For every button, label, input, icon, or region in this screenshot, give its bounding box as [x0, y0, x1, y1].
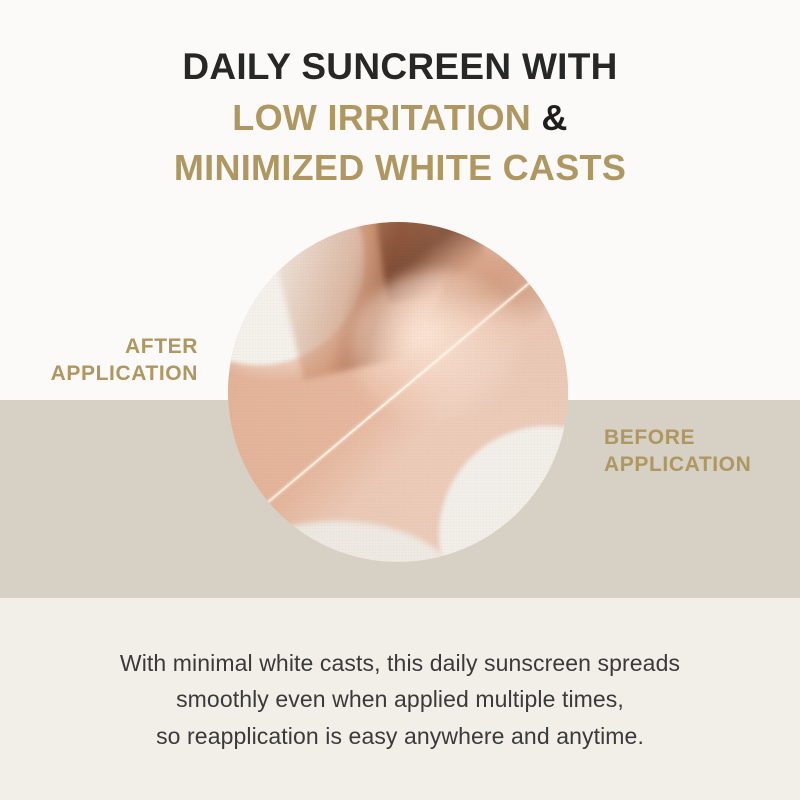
label-after-line-2: APPLICATION: [0, 360, 198, 387]
headline-block: DAILY SUNCREEN WITH LOW IRRITATION & MIN…: [0, 46, 800, 188]
headline-line-2: LOW IRRITATION &: [0, 97, 800, 138]
headline-line-3: MINIMIZED WHITE CASTS: [0, 147, 800, 188]
headline-line-1: DAILY SUNCREEN WITH: [0, 46, 800, 88]
promo-banner: DAILY SUNCREEN WITH LOW IRRITATION & MIN…: [0, 0, 800, 800]
label-before-line-1: BEFORE: [604, 424, 751, 451]
headline-ampersand: &: [541, 97, 567, 138]
headline-line-2-gold: LOW IRRITATION: [232, 97, 531, 138]
caption-block: With minimal white casts, this daily sun…: [0, 645, 800, 754]
caption-line-2: smoothly even when applied multiple time…: [0, 681, 800, 717]
label-before-line-2: APPLICATION: [604, 451, 751, 478]
label-after-application: AFTER APPLICATION: [0, 333, 198, 388]
caption-line-1: With minimal white casts, this daily sun…: [0, 645, 800, 681]
label-before-application: BEFORE APPLICATION: [604, 424, 751, 479]
caption-line-3: so reapplication is easy anywhere and an…: [0, 718, 800, 754]
label-after-line-1: AFTER: [0, 333, 198, 360]
hand-swatch-photo: [228, 222, 568, 562]
